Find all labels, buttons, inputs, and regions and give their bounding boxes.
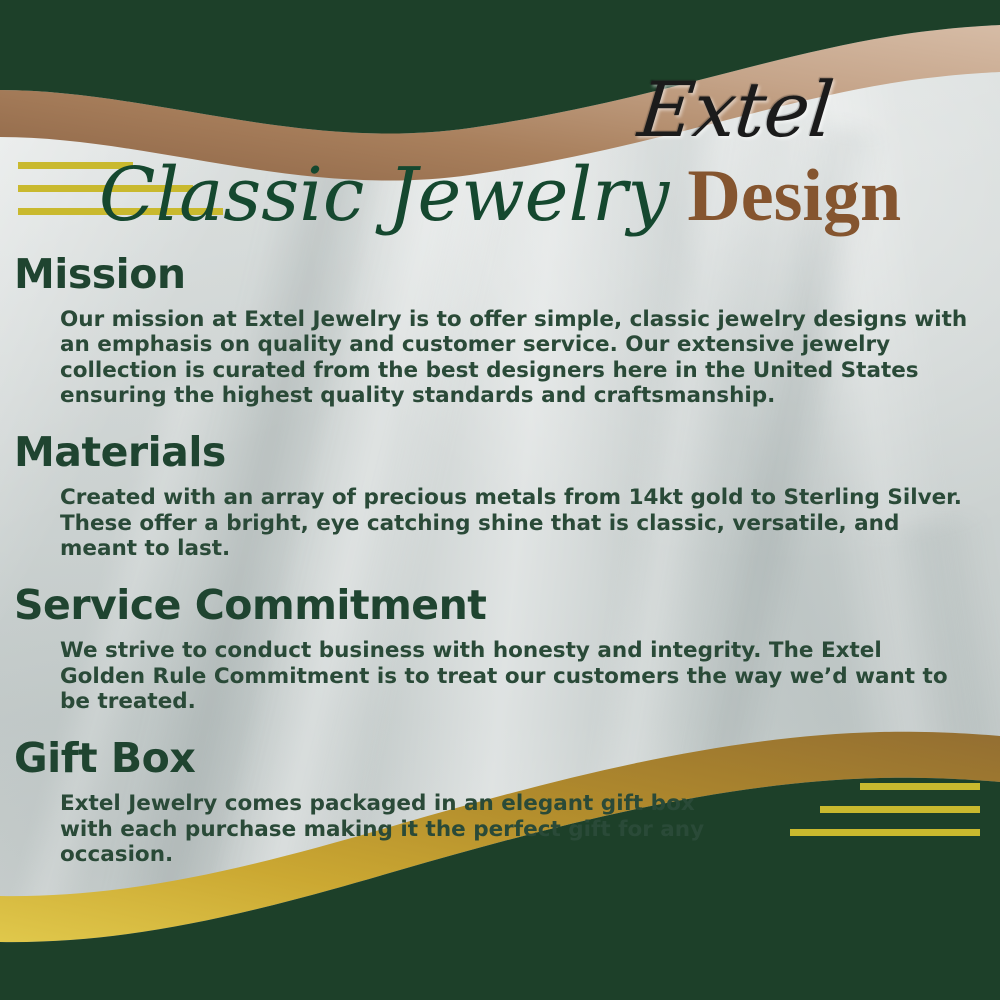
section-materials: Materials Created with an array of preci… [0,430,1000,561]
section-title-materials: Materials [0,430,1000,476]
page-title: Classic JewelryDesign [0,152,1000,239]
section-body-mission: Our mission at Extel Jewelry is to offer… [0,307,1000,408]
section-body-gift-box: Extel Jewelry comes packaged in an elega… [0,791,1000,867]
headline-design: Design [687,155,901,237]
section-title-gift-box: Gift Box [0,736,1000,782]
poster-canvas: Extel Classic JewelryDesign Mission Our … [0,0,1000,1000]
section-service-commitment: Service Commitment We strive to conduct … [0,583,1000,714]
section-title-service-commitment: Service Commitment [0,583,1000,629]
section-gift-box: Gift Box Extel Jewelry comes packaged in… [0,736,1000,867]
section-title-mission: Mission [0,252,1000,298]
brand-logo-extel: Extel [635,72,836,148]
section-body-materials: Created with an array of precious metals… [0,485,1000,561]
headline-classic-jewelry: Classic Jewelry [99,152,669,238]
sections-container: Mission Our mission at Extel Jewelry is … [0,252,1000,889]
section-mission: Mission Our mission at Extel Jewelry is … [0,252,1000,408]
section-body-service-commitment: We strive to conduct business with hones… [0,638,1000,714]
